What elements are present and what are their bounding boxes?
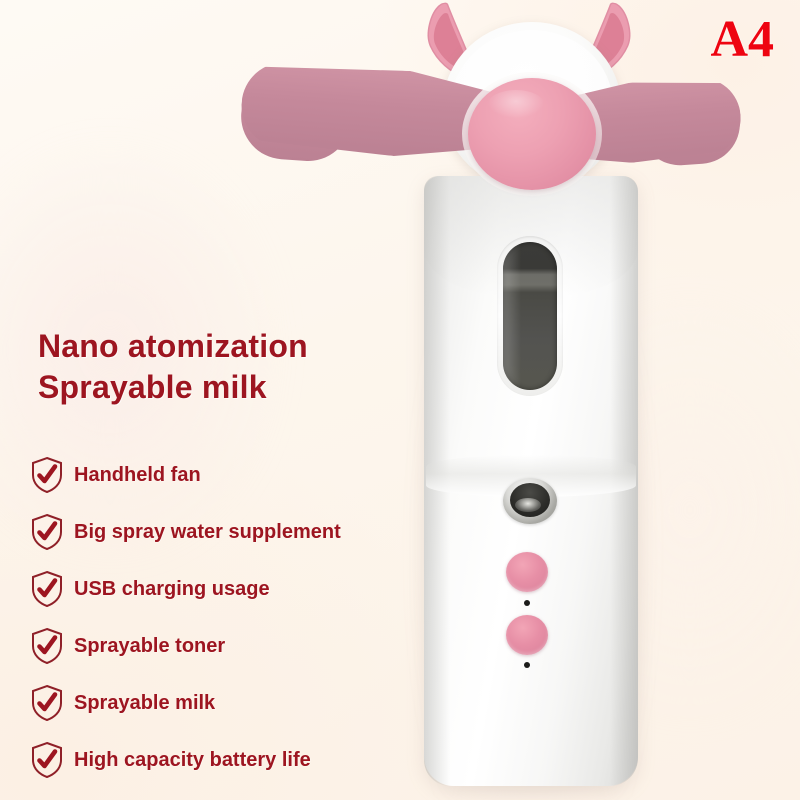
shield-check-icon [30,513,64,551]
shield-check-icon [30,456,64,494]
list-item: Sprayable toner [30,617,410,674]
feature-label: Handheld fan [74,464,201,486]
list-item: Sprayable milk [30,674,410,731]
fan-hub-gleam [488,90,544,118]
feature-label: High capacity battery life [74,749,311,771]
feature-label: Big spray water supplement [74,521,341,543]
headline-line-1: Nano atomization [38,326,308,367]
power-button-bottom[interactable] [506,615,548,655]
list-item: Big spray water supplement [30,503,410,560]
list-item: Handheld fan [30,446,410,503]
spray-nozzle-gleam [515,498,541,512]
feature-label: Sprayable milk [74,692,215,714]
led-indicator-bottom [524,662,530,668]
list-item: High capacity battery life [30,731,410,788]
product-promo-image: A4 Nano atomization Sprayable milk Handh… [0,0,800,800]
headline-line-2: Sprayable milk [38,367,308,408]
feature-list: Handheld fan Big spray water supplement … [30,446,410,788]
model-badge: A4 [710,14,774,66]
power-button-top[interactable] [506,552,548,592]
water-tank-highlight [503,242,521,390]
page-title: Nano atomization Sprayable milk [38,326,308,408]
list-item: USB charging usage [30,560,410,617]
shield-check-icon [30,741,64,779]
shield-check-icon [30,570,64,608]
shield-check-icon [30,627,64,665]
water-tank-window [503,242,557,390]
led-indicator-top [524,600,530,606]
feature-label: Sprayable toner [74,635,225,657]
feature-label: USB charging usage [74,578,270,600]
shield-check-icon [30,684,64,722]
